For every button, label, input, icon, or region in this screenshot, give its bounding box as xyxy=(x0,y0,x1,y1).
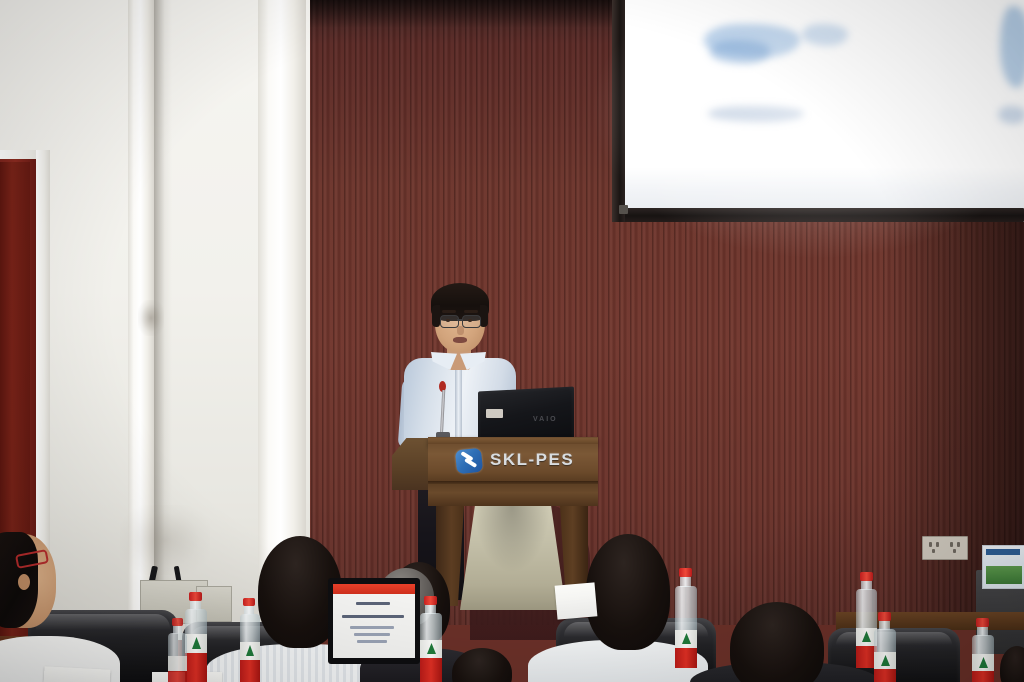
wall-smudge-mark xyxy=(138,300,164,336)
audience-laptop-doc-body-2 xyxy=(354,633,390,636)
presentation-photo-scene: VAIO SKL-PES xyxy=(0,0,1024,682)
chair-sheen-left xyxy=(36,614,170,630)
socket-pin-a3 xyxy=(932,549,935,553)
projection-screen xyxy=(612,0,1024,222)
bottle-cap xyxy=(878,612,891,621)
podium-laptop-badge xyxy=(486,409,503,418)
bottle-cap xyxy=(243,598,255,606)
socket-pin-a1 xyxy=(929,542,932,547)
podium-laptop-brandmark: VAIO xyxy=(533,416,558,423)
water-bottle-3[interactable] xyxy=(418,596,444,682)
paper-sheet-left xyxy=(44,666,111,682)
slide-image-center xyxy=(802,24,848,46)
side-poster-header-bar xyxy=(986,549,1020,555)
bottle-cap xyxy=(172,618,183,626)
water-bottle-4[interactable] xyxy=(673,568,699,668)
speaker-brow-left xyxy=(442,310,456,313)
podium-lower-panel xyxy=(428,484,598,506)
slide-image-right-lower xyxy=(998,106,1024,124)
bottle-label-bottom xyxy=(240,660,260,682)
bottle-label-bottom xyxy=(420,658,442,682)
double-wall-socket[interactable] xyxy=(922,536,968,560)
podium-brand-text: SKL-PES xyxy=(490,450,574,470)
speaker-eyeglasses-right-lens xyxy=(462,315,481,328)
water-bottle-8[interactable] xyxy=(167,618,189,682)
projection-screen-left-rail xyxy=(612,0,625,222)
socket-pin-b1 xyxy=(950,542,953,547)
audience-laptop-ribbon-toolbar xyxy=(333,584,415,594)
bottle-cap xyxy=(860,572,873,581)
socket-pin-b3 xyxy=(953,549,956,553)
speaker-mouth xyxy=(453,337,467,343)
bottle-cap xyxy=(424,596,437,605)
paper-sheet-center-right xyxy=(555,582,598,619)
slide-image-left-lower xyxy=(710,40,770,64)
speaker-eyeglasses-bridge xyxy=(457,319,462,321)
audience-member-left-ear xyxy=(18,574,30,590)
audience-laptop-doc-title xyxy=(356,602,390,605)
audience-laptop-doc-heading xyxy=(342,615,404,618)
audience-laptop-doc-body-1 xyxy=(350,626,394,629)
bottle-label-top xyxy=(168,656,187,671)
water-bottle-6[interactable] xyxy=(872,612,898,682)
speaker-brow-right xyxy=(464,310,478,313)
projection-screen-weight-bar xyxy=(612,208,1024,222)
speaker-sideburn-right xyxy=(480,305,488,327)
skl-pes-logo-icon xyxy=(455,448,483,475)
bottle-cap xyxy=(976,618,989,627)
audience-laptop-screen xyxy=(333,584,415,658)
bottle-label-bottom xyxy=(874,669,896,682)
audience-member-center-right-head xyxy=(586,534,670,650)
speaker-eye-right xyxy=(468,319,472,322)
socket-pin-a2 xyxy=(936,542,939,547)
slide-text-block xyxy=(708,106,804,122)
bottle-label-bottom xyxy=(972,671,994,682)
speaker-sideburn-left xyxy=(432,305,440,327)
speaker-eyeglasses-left-lens xyxy=(440,315,459,328)
side-poster-image xyxy=(986,566,1022,584)
speaker-eye-left xyxy=(446,319,450,322)
socket-pin-b2 xyxy=(957,542,960,547)
water-bottle-2[interactable] xyxy=(238,598,262,682)
bottle-cap xyxy=(189,592,202,601)
projection-screen-lug xyxy=(619,205,628,214)
podium-pedestal-waist xyxy=(452,506,572,610)
water-bottle-7[interactable] xyxy=(970,618,996,682)
bottle-label-bottom xyxy=(168,671,187,682)
wall-scuff-lower xyxy=(120,505,210,575)
bottle-cap xyxy=(679,568,692,577)
bottle-label-bottom xyxy=(675,648,697,668)
audience-laptop-doc-body-3 xyxy=(357,640,387,643)
speaker-nose xyxy=(457,326,464,335)
